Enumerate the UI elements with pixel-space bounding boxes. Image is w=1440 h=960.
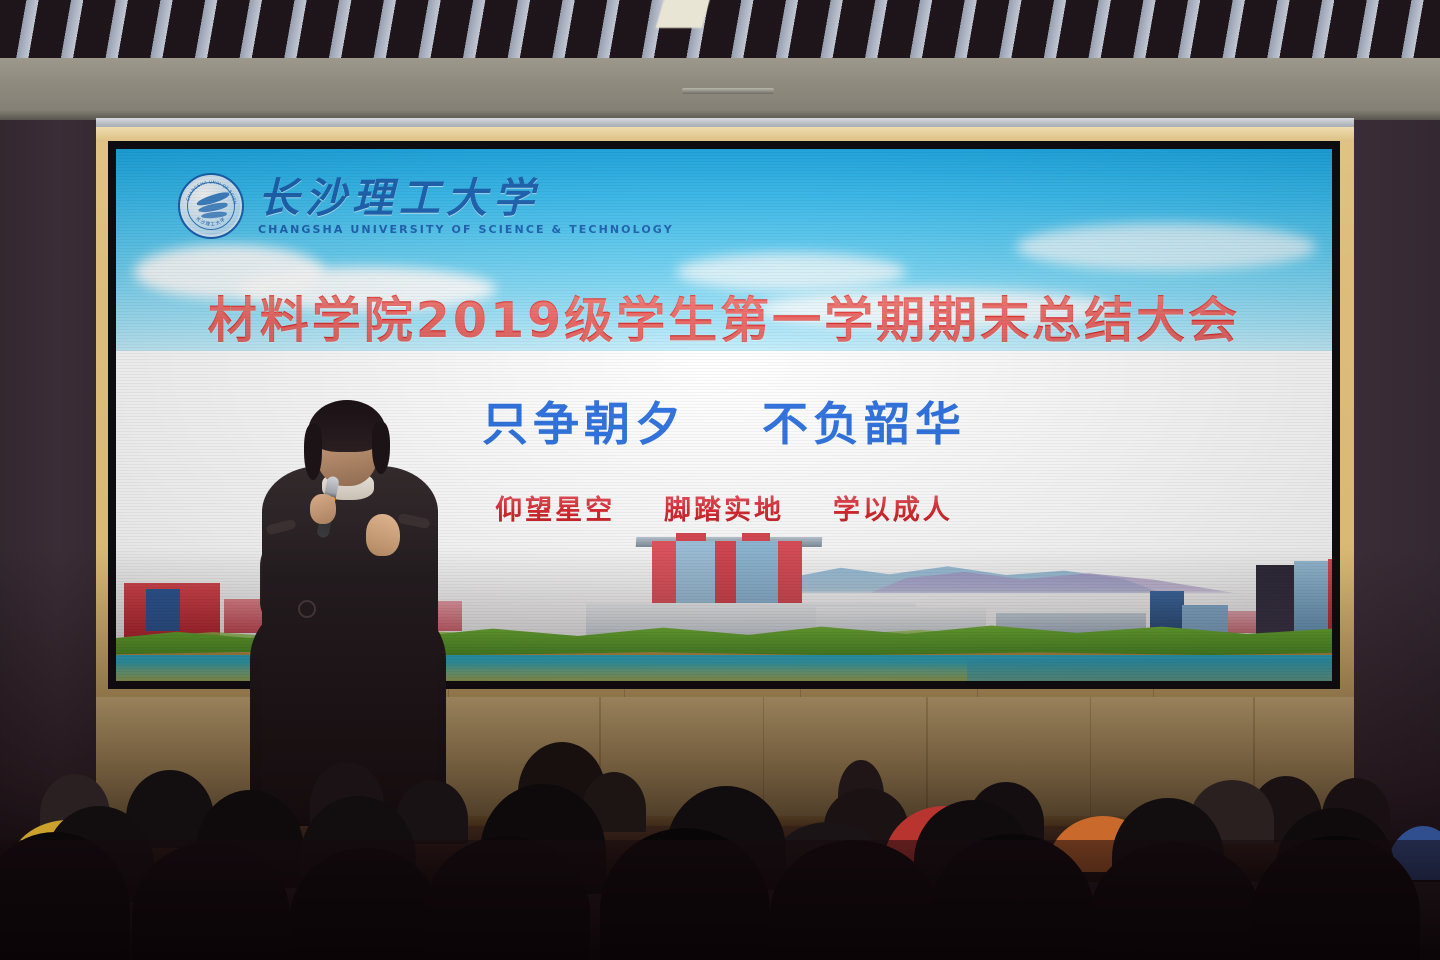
presenter-hand-left	[310, 494, 336, 524]
university-branding: CHANGSHA UNIV OF SCIENCE & TECH 长沙理工大学 长…	[178, 173, 674, 239]
wall-band-above-screen	[96, 127, 1354, 141]
slide-motto-part2: 脚踏实地	[664, 495, 784, 526]
ceiling	[0, 0, 1440, 58]
ceiling-light-panel	[656, 0, 711, 28]
ceiling-vent	[682, 88, 774, 94]
presenter-hand-right	[366, 514, 400, 556]
slide-subtitle-part1: 只争朝夕	[482, 397, 686, 451]
ceiling-slats	[0, 0, 1440, 58]
university-seal-icon: CHANGSHA UNIV OF SCIENCE & TECH 长沙理工大学	[178, 173, 244, 239]
university-name-en: CHANGSHA UNIVERSITY OF SCIENCE & TECHNOL…	[258, 223, 674, 236]
seal-swirl-mark	[194, 193, 232, 223]
stage-light-strip	[96, 118, 1354, 127]
slide-motto-part1: 仰望星空	[495, 495, 615, 526]
auditorium-scene: CHANGSHA UNIV OF SCIENCE & TECH 长沙理工大学 长…	[0, 0, 1440, 960]
slide-motto-part3: 学以成人	[833, 495, 953, 526]
university-name-cn: 长沙理工大学	[258, 176, 674, 220]
university-name-block: 长沙理工大学 CHANGSHA UNIVERSITY OF SCIENCE & …	[258, 176, 674, 236]
audience-silhouettes	[0, 660, 1440, 960]
slide-title: 材料学院2019级学生第一学期期末总结大会	[116, 281, 1332, 352]
slide-subtitle-part2: 不负韶华	[762, 397, 966, 451]
